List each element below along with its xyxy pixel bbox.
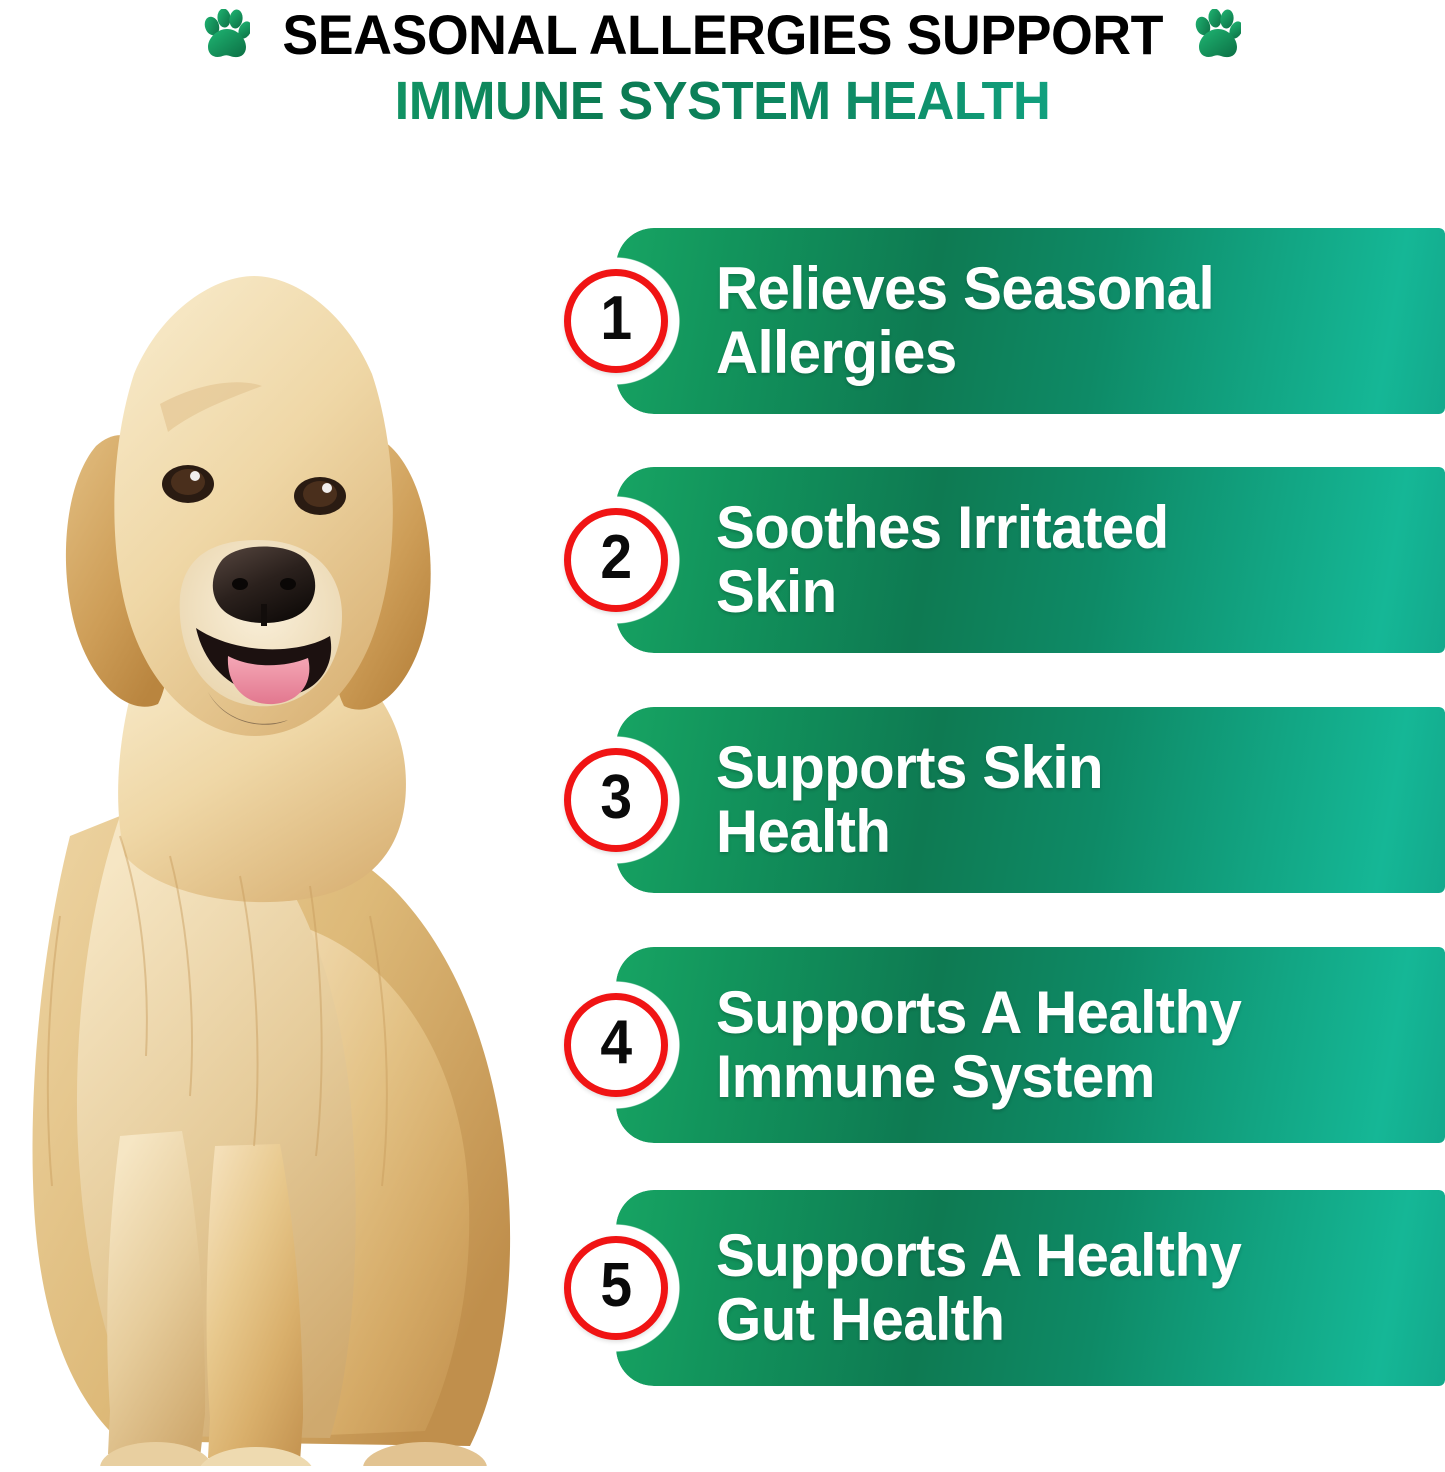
benefit-item-4[interactable]: 4 Supports A Healthy Immune System <box>556 947 1445 1143</box>
benefit-item-5[interactable]: 5 Supports A Healthy Gut Health <box>556 1190 1445 1386</box>
benefit-label-line1: Supports Skin <box>716 736 1103 800</box>
golden-retriever-illustration <box>0 196 560 1466</box>
benefit-number-badge: 4 <box>564 993 668 1097</box>
benefit-label-line1: Soothes Irritated <box>716 496 1169 560</box>
benefit-label: Soothes Irritated Skin <box>716 496 1196 623</box>
benefit-item-3[interactable]: 3 Supports Skin Health <box>556 707 1445 893</box>
benefit-label-line1: Supports A Healthy <box>716 1224 1241 1288</box>
benefit-number: 5 <box>600 1255 632 1317</box>
benefit-number: 2 <box>600 527 632 589</box>
benefit-label-line1: Relieves Seasonal <box>716 257 1214 321</box>
page-subtitle: IMMUNE SYSTEM HEALTH <box>22 74 1424 128</box>
benefit-label-line2: Allergies <box>716 321 1214 385</box>
benefit-label-line2: Skin <box>716 560 1169 624</box>
benefit-label: Supports A Healthy Gut Health <box>716 1224 1268 1351</box>
paw-print-icon-left <box>204 9 250 61</box>
paw-print-icon-right <box>1195 9 1241 61</box>
benefit-label-line2: Gut Health <box>716 1288 1241 1352</box>
benefit-number: 1 <box>600 288 632 350</box>
benefit-label-line2: Health <box>716 800 1103 864</box>
dog-photo <box>0 196 560 1466</box>
header: SEASONAL ALLERGIES SUPPORT IMMUNE SYSTEM… <box>0 0 1445 150</box>
benefit-number: 4 <box>600 1012 632 1074</box>
title-row: SEASONAL ALLERGIES SUPPORT <box>0 4 1445 66</box>
benefit-number-badge: 3 <box>564 748 668 852</box>
infographic-page: SEASONAL ALLERGIES SUPPORT IMMUNE SYSTEM… <box>0 0 1445 1472</box>
benefit-number: 3 <box>600 767 632 829</box>
benefit-number-badge: 2 <box>564 508 668 612</box>
benefit-number-badge: 5 <box>564 1236 668 1340</box>
benefit-label-line2: Immune System <box>716 1045 1241 1109</box>
benefit-label: Supports A Healthy Immune System <box>716 981 1268 1108</box>
benefit-label-line1: Supports A Healthy <box>716 981 1241 1045</box>
benefit-label: Relieves Seasonal Allergies <box>716 257 1241 384</box>
benefit-number-badge: 1 <box>564 269 668 373</box>
page-title: SEASONAL ALLERGIES SUPPORT <box>282 7 1163 63</box>
benefit-item-1[interactable]: 1 Relieves Seasonal Allergies <box>556 228 1445 414</box>
benefit-label: Supports Skin Health <box>716 736 1130 863</box>
benefit-item-2[interactable]: 2 Soothes Irritated Skin <box>556 467 1445 653</box>
